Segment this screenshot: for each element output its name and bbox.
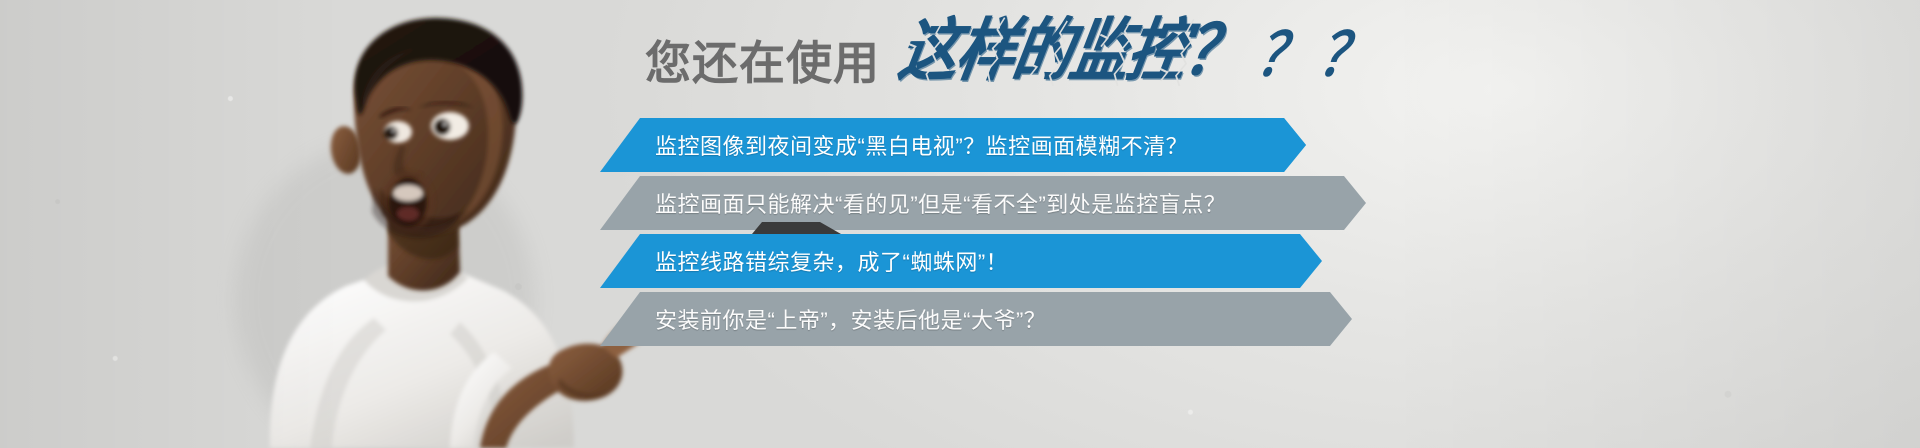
- banner-label-3: 监控线路错综复杂，成了“蜘蛛网”！: [655, 234, 1008, 288]
- banner-row-4[interactable]: 安装前你是“上帝”，安装后他是“大爷”？: [0, 292, 1920, 346]
- banner-list: 监控图像到夜间变成“黑白电视”？监控画面模糊不清？ 监控画面只能解决“看的见”但…: [0, 118, 1920, 350]
- banner-label-4: 安装前你是“上帝”，安装后他是“大爷”？: [655, 292, 1046, 346]
- headline-plain-text: 您还在使用: [645, 40, 880, 86]
- headline: 您还在使用 这样的监控？ ？？: [645, 28, 1376, 86]
- headline-question-marks: ？？: [1252, 26, 1387, 86]
- banner-row-1[interactable]: 监控图像到夜间变成“黑白电视”？监控画面模糊不清？: [0, 118, 1920, 172]
- headline-styled-text: 这样的监控？: [894, 18, 1248, 86]
- banner-canvas: 您还在使用 这样的监控？ ？？: [0, 0, 1920, 448]
- banner-label-1: 监控图像到夜间变成“黑白电视”？监控画面模糊不清？: [655, 118, 1188, 172]
- headline-styled-label: 这样的监控？: [893, 13, 1249, 90]
- banner-row-3[interactable]: 监控线路错综复杂，成了“蜘蛛网”！: [0, 234, 1920, 288]
